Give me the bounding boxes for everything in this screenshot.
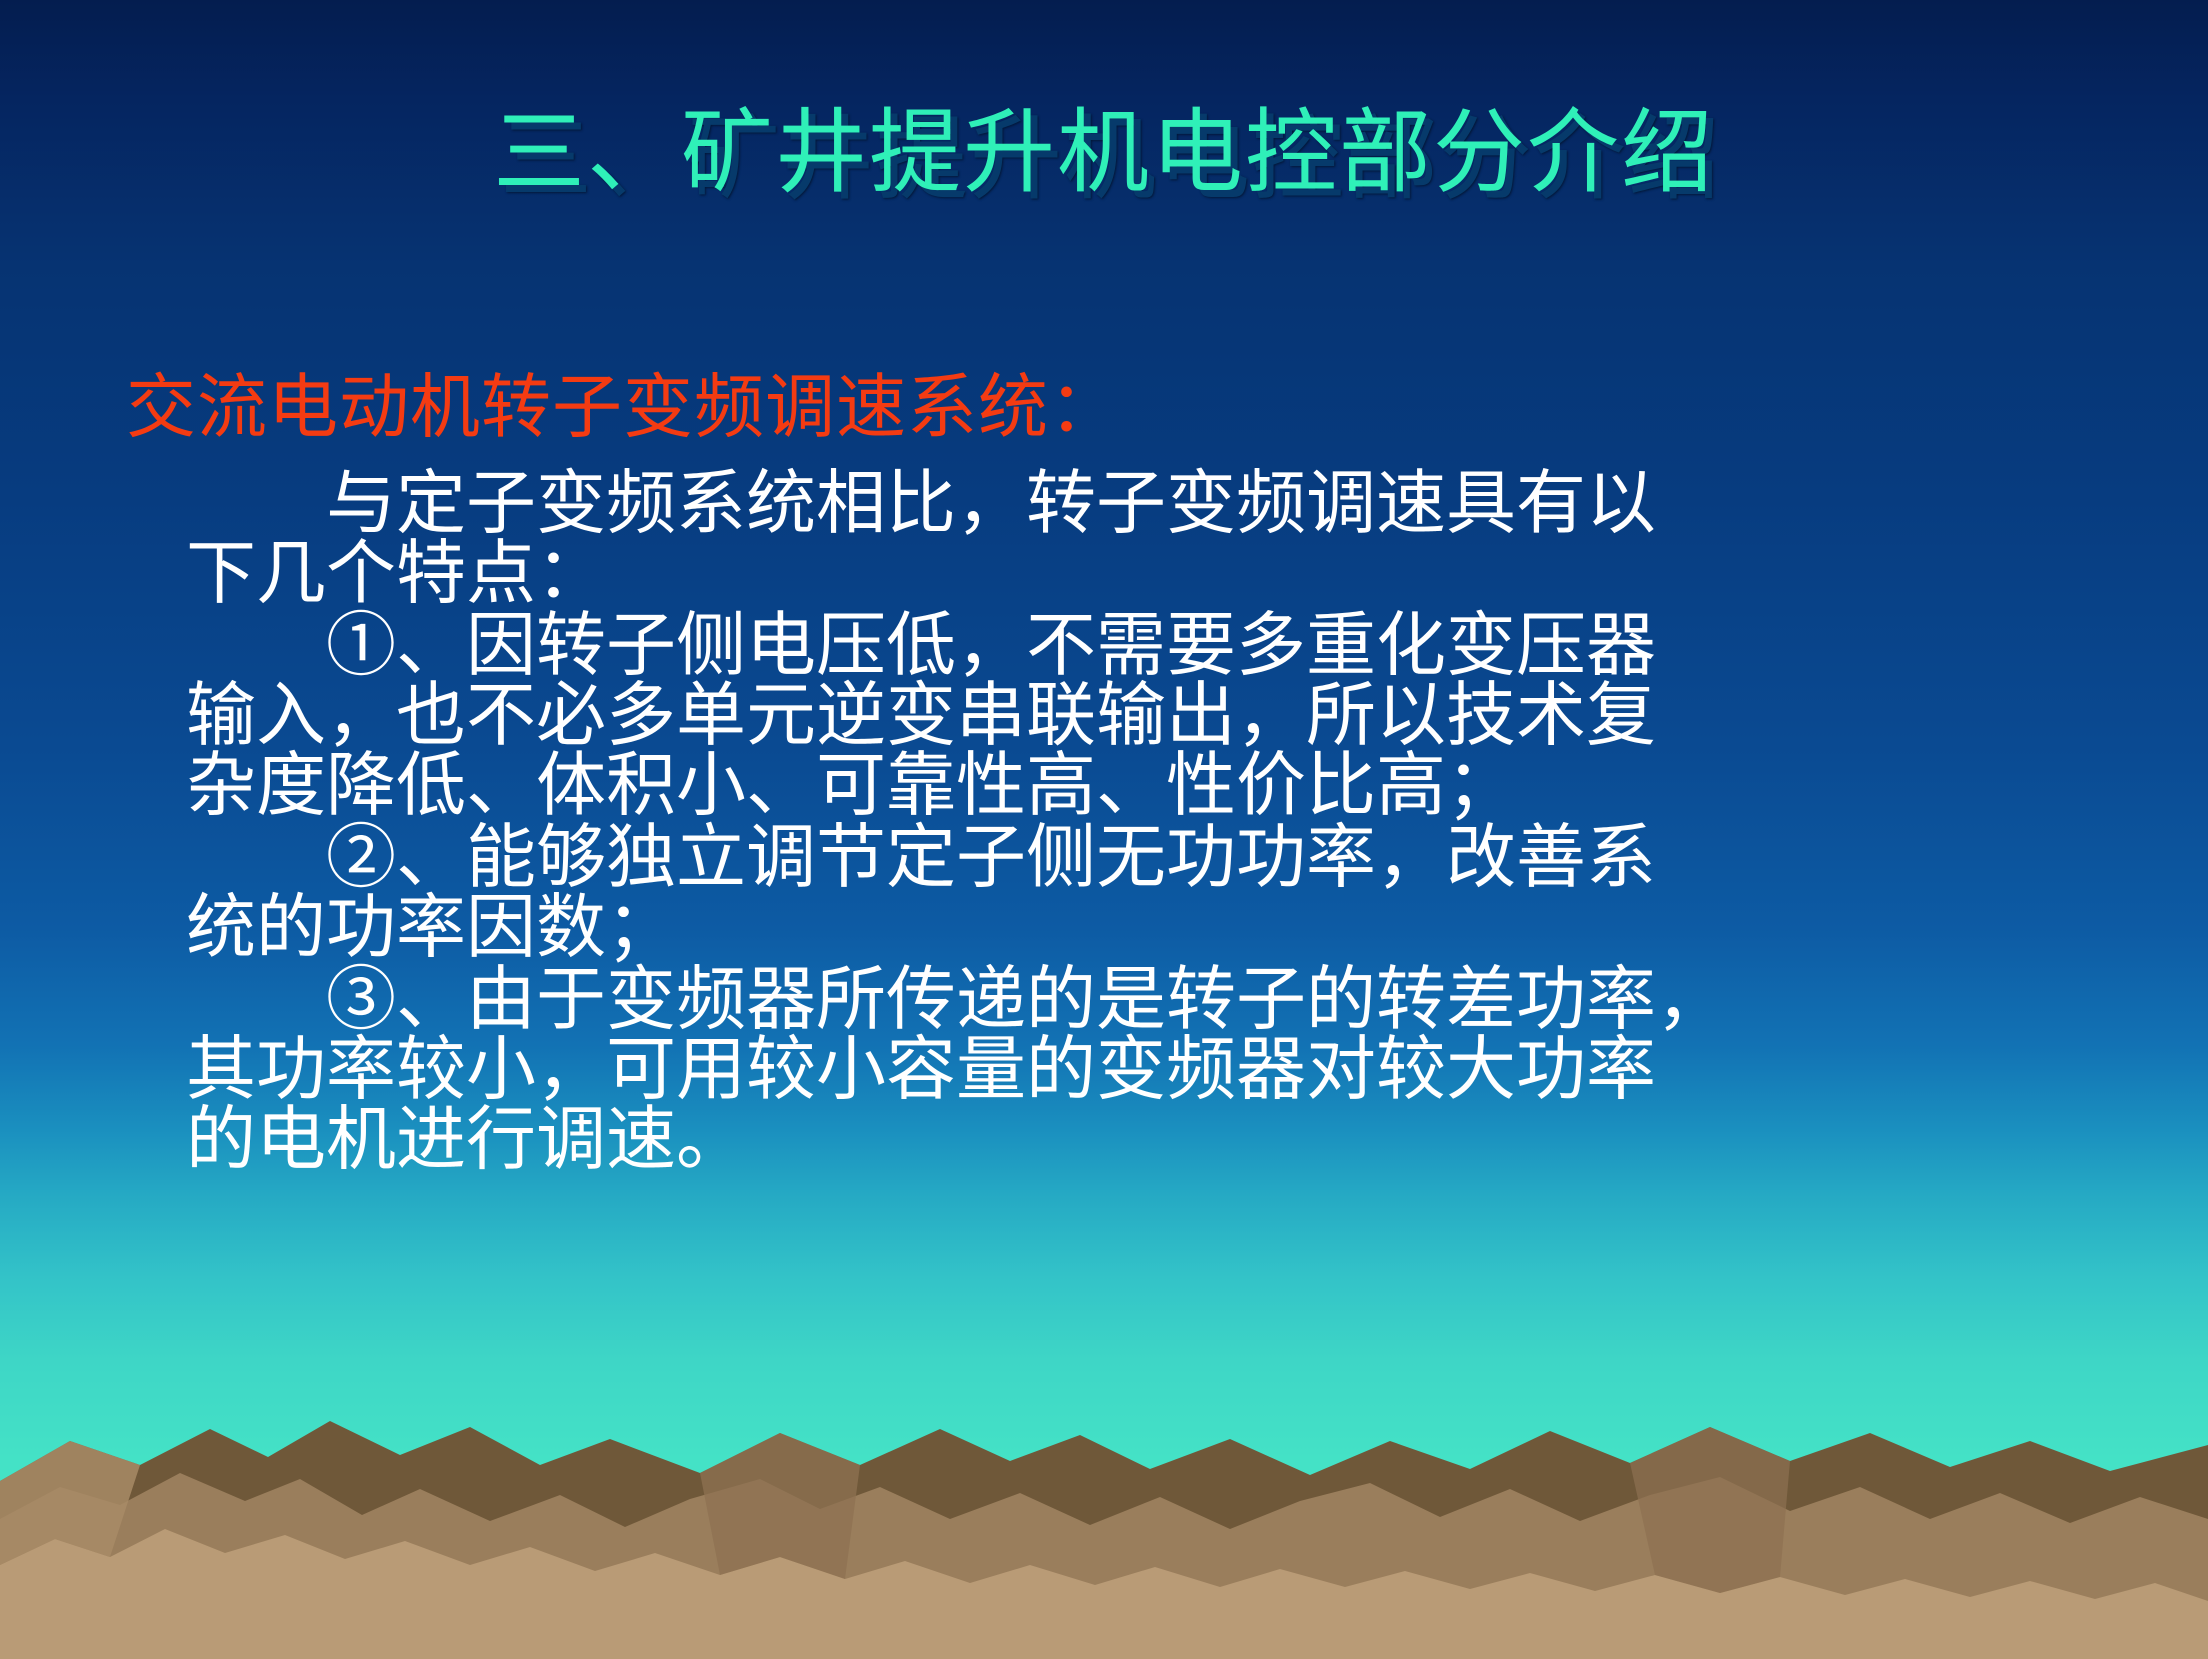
body-paragraph-item-2: ②、能够独立调节定子侧无功功率，改善系 统的功率因数； <box>186 824 2116 964</box>
item-1-line-2: 输入，也不必多单元逆变串联输出，所以技术复 <box>186 682 2116 752</box>
item-2-line-1: ②、能够独立调节定子侧无功功率，改善系 <box>186 824 2116 894</box>
body-paragraph-intro: 与定子变频系统相比，转子变频调速具有以 下几个特点： <box>186 470 2116 610</box>
slide-title: 三、矿井提升机电控部分介绍 <box>0 105 2208 202</box>
slide-body: 与定子变频系统相比，转子变频调速具有以 下几个特点： ①、因转子侧电压低，不需要… <box>186 470 2116 1178</box>
body-paragraph-item-3: ③、由于变频器所传递的是转子的转差功率， 其功率较小，可用较小容量的变频器对较大… <box>186 966 2116 1176</box>
slide-subheading: 交流电动机转子变频调速系统： <box>126 370 1120 448</box>
item-1-line-1: ①、因转子侧电压低，不需要多重化变压器 <box>186 612 2116 682</box>
item-3-line-2: 其功率较小，可用较小容量的变频器对较大功率 <box>186 1036 2116 1106</box>
item-1-line-3: 杂度降低、体积小、可靠性高、性价比高； <box>186 752 2116 822</box>
mountain-range-graphic <box>0 1369 2208 1659</box>
intro-line-2: 下几个特点： <box>186 540 2116 610</box>
presentation-slide: 三、矿井提升机电控部分介绍 交流电动机转子变频调速系统： 与定子变频系统相比，转… <box>0 0 2208 1659</box>
intro-line-1: 与定子变频系统相比，转子变频调速具有以 <box>186 470 2116 540</box>
body-paragraph-item-1: ①、因转子侧电压低，不需要多重化变压器 输入，也不必多单元逆变串联输出，所以技术… <box>186 612 2116 822</box>
item-3-line-3: 的电机进行调速。 <box>186 1106 2116 1176</box>
mountain-facet-right <box>1630 1427 1790 1593</box>
item-2-line-2: 统的功率因数； <box>186 894 2116 964</box>
item-3-line-1: ③、由于变频器所传递的是转子的转差功率， <box>186 966 2116 1036</box>
